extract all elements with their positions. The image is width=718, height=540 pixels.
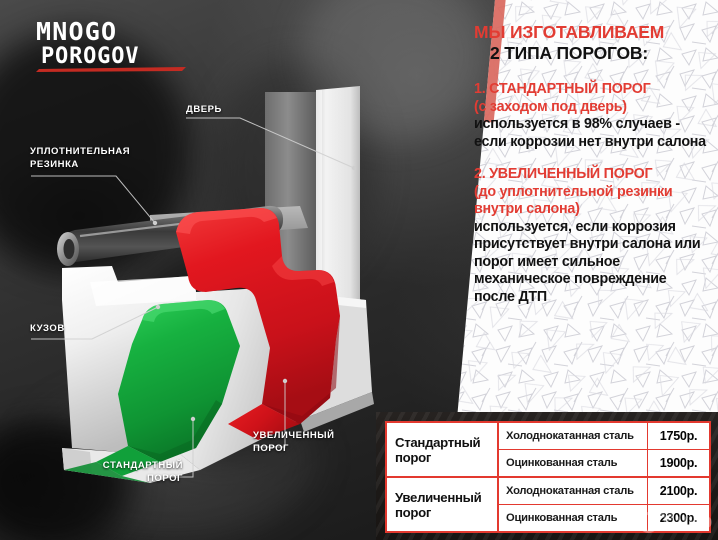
block-1-body: используется в 98% случаев - если корроз…: [474, 116, 710, 151]
row-price: 1900р.: [647, 450, 709, 476]
label-seal-rubber: УПЛОТНИТЕЛЬНАЯ РЕЗИНКА: [30, 146, 130, 171]
block-2-body: используется, если коррозия присутствует…: [474, 219, 710, 307]
price-table-category-column: Стандартный порог Увеличенный порог: [387, 423, 499, 531]
block-2-title: 2. УВЕЛИЧЕННЫЙ ПОРОГ: [474, 166, 710, 184]
table-row: Оцинкованная сталь 1900р.: [499, 450, 709, 478]
panel-heading-line-2: 2 ТИПА ПОРОГОВ:: [490, 43, 710, 64]
panel-heading-line-1: МЫ ИЗГОТАВЛИВАЕМ: [474, 22, 710, 43]
row-material: Холоднокатанная сталь: [499, 430, 647, 442]
table-row: Холоднокатанная сталь 2100р.: [499, 478, 709, 505]
row-price: 2100р.: [647, 478, 709, 504]
label-body: КУЗОВ: [30, 323, 65, 336]
logo-line-1: MNOGO: [36, 17, 117, 46]
price-category-standard: Стандартный порог: [387, 423, 497, 478]
sill-type-block-2: 2. УВЕЛИЧЕННЫЙ ПОРОГ (до уплотнительной …: [474, 166, 710, 306]
price-table-rows: Холоднокатанная сталь 1750р. Оцинкованна…: [499, 423, 709, 531]
label-standard-sill: СТАНДАРТНЫЙ ПОРОГ: [88, 460, 183, 485]
seal-rubber-bore: [64, 239, 75, 259]
price-category-increased: Увеличенный порог: [387, 478, 497, 531]
poster-canvas: ДВЕРЬ УПЛОТНИТЕЛЬНАЯ РЕЗИНКА КУЗОВ СТАНД…: [0, 0, 718, 540]
block-1-subtitle: (с заходом под дверь): [474, 99, 710, 117]
logo-line-2: POROGOV: [41, 44, 139, 69]
label-door: ДВЕРЬ: [186, 104, 222, 117]
label-increased-sill: УВЕЛИЧЕННЫЙ ПОРОГ: [253, 430, 335, 455]
row-material: Оцинкованная сталь: [499, 457, 647, 469]
block-1-title: 1. СТАНДАРТНЫЙ ПОРОГ: [474, 81, 710, 99]
brand-logo: MNOGO POROGOV: [36, 16, 206, 74]
sill-type-block-1: 1. СТАНДАРТНЫЙ ПОРОГ (с заходом под двер…: [474, 81, 710, 151]
price-table: Стандартный порог Увеличенный порог Холо…: [385, 421, 711, 533]
row-material: Оцинкованная сталь: [499, 512, 647, 524]
table-row: Холоднокатанная сталь 1750р.: [499, 423, 709, 450]
row-price: 1750р.: [647, 423, 709, 449]
table-row: Оцинкованная сталь 2300р.: [499, 505, 709, 531]
row-material: Холоднокатанная сталь: [499, 485, 647, 497]
block-2-subtitle: (до уплотнительной резинки внутри салона…: [474, 184, 710, 219]
row-price: 2300р.: [647, 505, 709, 531]
